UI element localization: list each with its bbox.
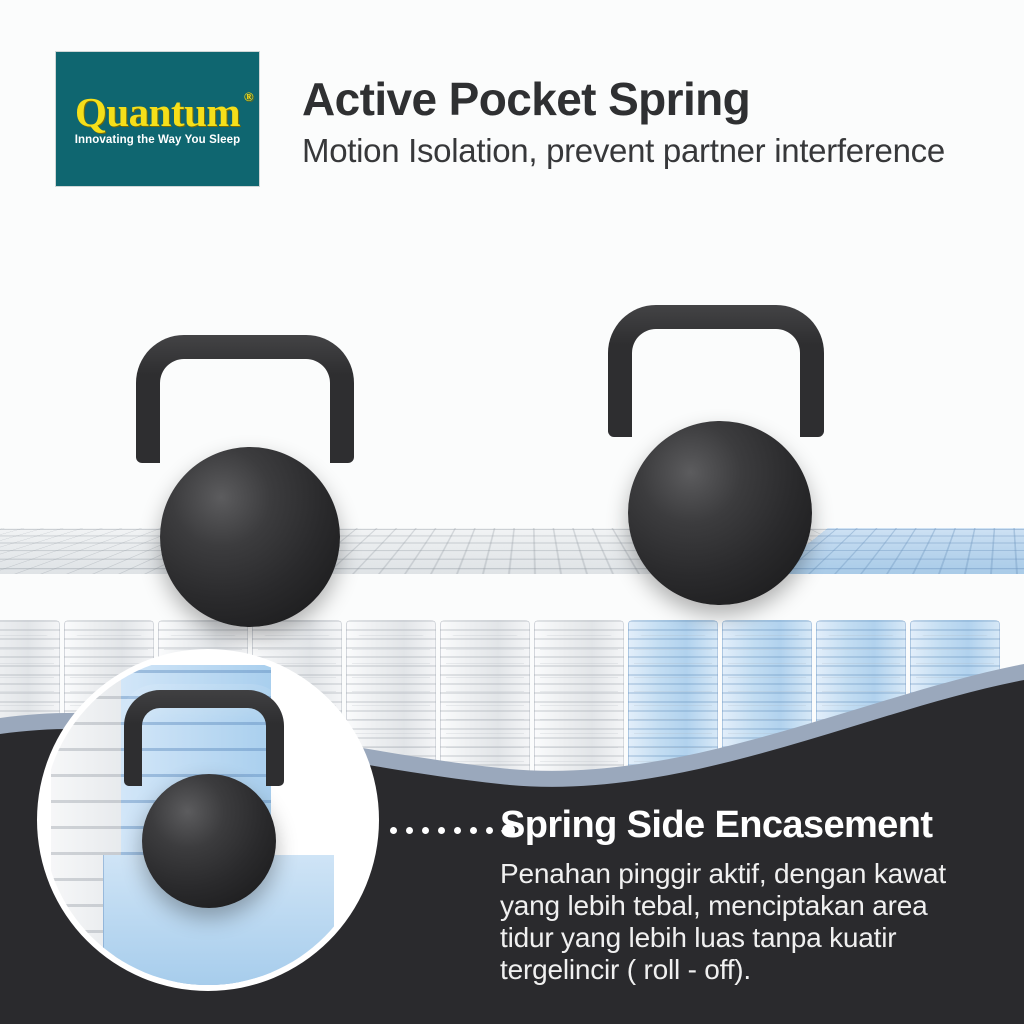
callout-body: Penahan pinggir aktif, dengan kawat yang…: [500, 858, 970, 986]
kettlebell-handle-icon: [136, 335, 354, 463]
callout-title: Spring Side Encasement: [500, 806, 1020, 846]
page-title: Active Pocket Spring: [302, 76, 750, 122]
kettlebell-handle-icon: [608, 305, 824, 437]
kettlebell-body: [142, 774, 276, 908]
leader-dot: [438, 827, 445, 834]
leader-line: [390, 824, 515, 837]
page-subtitle: Motion Isolation, prevent partner interf…: [302, 133, 945, 169]
header: Quantum® Innovating the Way You Sleep Ac…: [0, 0, 1024, 210]
brand-logo-tagline: Innovating the Way You Sleep: [75, 134, 241, 146]
callout-block: Spring Side Encasement Penahan pinggir a…: [500, 806, 1020, 986]
leader-dot: [390, 827, 397, 834]
kettlebell-right: [590, 305, 840, 605]
brand-logo-text: Quantum: [75, 89, 240, 135]
leader-dot: [486, 827, 493, 834]
kettlebell-body: [628, 421, 812, 605]
kettlebell-left: [120, 335, 370, 625]
brand-logo-wordmark: Quantum®: [75, 92, 240, 133]
leader-dot: [422, 827, 429, 834]
registered-mark-icon: ®: [244, 90, 253, 103]
poster-canvas: Quantum® Innovating the Way You Sleep Ac…: [0, 0, 1024, 1024]
leader-dot: [454, 827, 461, 834]
kettlebell-inset: [112, 690, 297, 905]
brand-logo: Quantum® Innovating the Way You Sleep: [55, 51, 260, 187]
leader-dot: [470, 827, 477, 834]
leader-dot: [406, 827, 413, 834]
kettlebell-handle-icon: [124, 690, 284, 786]
